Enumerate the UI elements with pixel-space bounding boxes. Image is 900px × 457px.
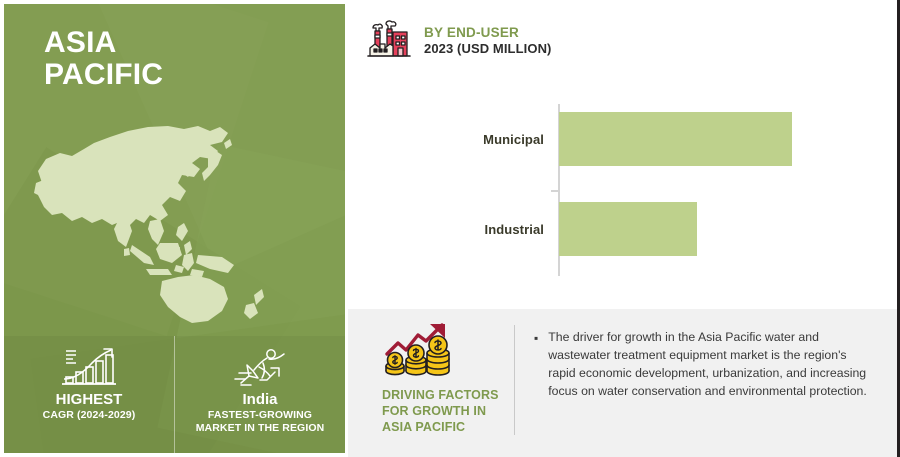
chart-header-text: BY END-USER 2023 (USD MILLION) xyxy=(424,25,551,56)
driving-factors-title: DRIVING FACTORS FOR GROWTH IN ASIA PACIF… xyxy=(382,387,500,435)
region-title-line2: PACIFIC xyxy=(44,59,163,91)
stat-highest-cagr: HIGHEST CAGR (2024-2029) xyxy=(4,336,174,453)
driving-factors-title-line2: FOR GROWTH IN xyxy=(382,403,500,419)
coins-growth-arrow-icon xyxy=(382,321,500,383)
region-title-line1: ASIA xyxy=(44,27,163,59)
stat-sub-label-line2: MARKET IN THE REGION xyxy=(196,422,325,435)
stat-main-label: India xyxy=(242,392,277,409)
chart-panel: BY END-USER 2023 (USD MILLION) Municipal… xyxy=(348,4,897,309)
driving-factors-title-line3: ASIA PACIFIC xyxy=(382,419,500,435)
region-title: ASIA PACIFIC xyxy=(44,27,163,92)
bar-municipal xyxy=(559,112,792,166)
chart-subtitle: 2023 (USD MILLION) xyxy=(424,41,551,56)
stats-row: HIGHEST CAGR (2024-2029) xyxy=(4,336,345,453)
axis-tick xyxy=(551,190,559,192)
stat-main-label: HIGHEST xyxy=(56,392,123,409)
vertical-divider xyxy=(514,325,515,435)
bar-industrial xyxy=(559,202,697,256)
stat-fastest-growing-country: India FASTEST-GROWING MARKET IN THE REGI… xyxy=(174,336,345,453)
bullet-marker-icon: ▪ xyxy=(534,329,538,401)
factory-icon xyxy=(366,18,412,64)
driving-factors-bullet: ▪ The driver for growth in the Asia Paci… xyxy=(534,329,875,401)
chart-bar-row: Industrial xyxy=(348,202,697,256)
stat-sub-label-line1: FASTEST-GROWING xyxy=(208,409,312,422)
driving-factors-title-line1: DRIVING FACTORS xyxy=(382,387,500,403)
bar-label-industrial: Industrial xyxy=(348,222,552,237)
region-panel: ASIA PACIFIC xyxy=(4,4,345,453)
end-user-bar-chart: Municipal Industrial xyxy=(348,90,900,290)
growth-bar-chart-icon xyxy=(58,344,120,390)
chart-bar-row: Municipal xyxy=(348,112,792,166)
infographic-page: ASIA PACIFIC xyxy=(0,0,900,457)
driving-factors-block: DRIVING FACTORS FOR GROWTH IN ASIA PACIF… xyxy=(382,321,500,435)
bar-label-municipal: Municipal xyxy=(348,132,552,147)
chart-title: BY END-USER xyxy=(424,25,551,41)
rocket-person-icon xyxy=(229,344,291,390)
stat-sub-label: CAGR (2024-2029) xyxy=(43,409,136,422)
driving-factors-panel: DRIVING FACTORS FOR GROWTH IN ASIA PACIF… xyxy=(348,309,897,457)
asia-pacific-map-icon xyxy=(32,109,322,324)
chart-header: BY END-USER 2023 (USD MILLION) xyxy=(366,18,551,64)
bullet-text: The driver for growth in the Asia Pacifi… xyxy=(548,329,875,401)
